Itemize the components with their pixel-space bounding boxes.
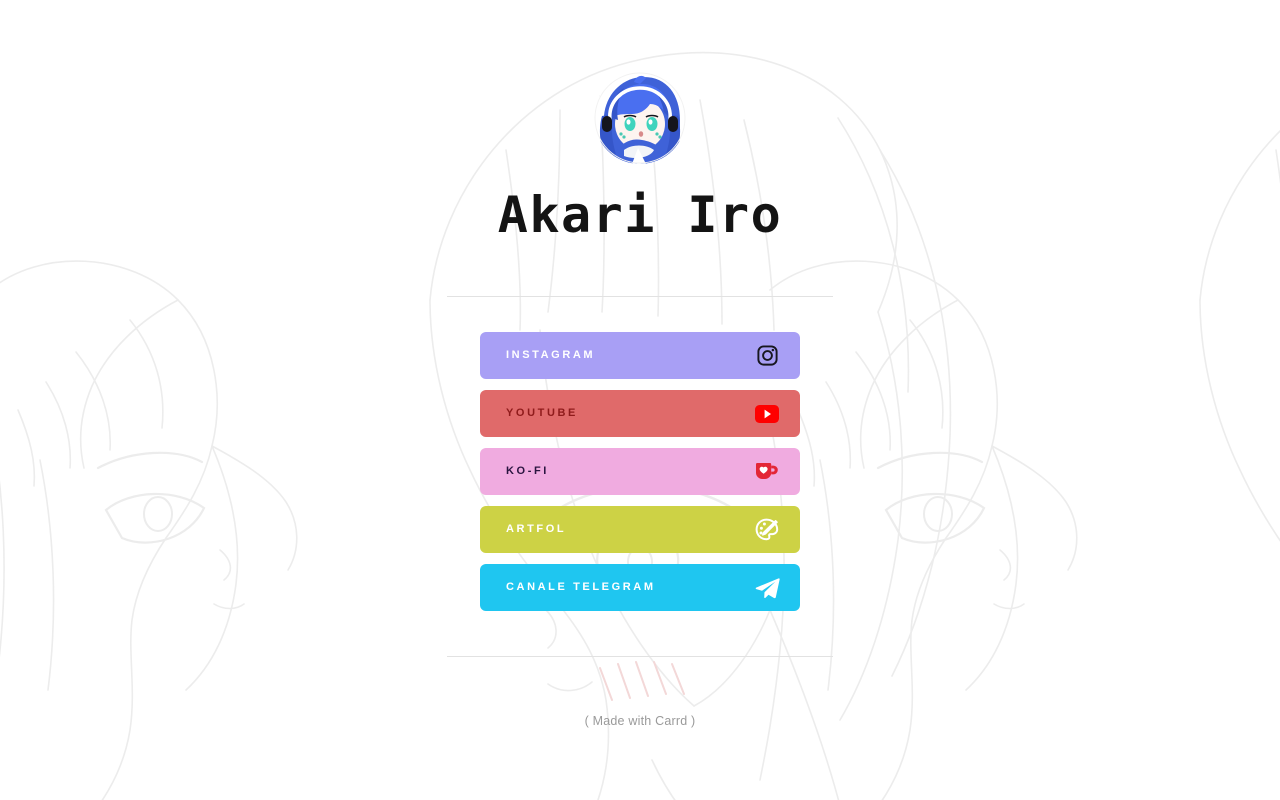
link-button-kofi[interactable]: KO-FI [480,448,800,495]
link-button-artfol[interactable]: ARTFOL [480,506,800,553]
artfol-palette-icon [754,517,780,543]
divider-bottom [447,656,833,657]
link-label-artfol: ARTFOL [506,524,754,535]
telegram-paperplane-icon [754,575,780,601]
link-label-instagram: INSTAGRAM [506,350,754,361]
avatar [594,72,686,164]
profile-page: Akari Iro INSTAGRAM YOUTUBE [0,0,1280,800]
youtube-icon [754,401,780,427]
link-list: INSTAGRAM YOUTUBE KO-FI [480,332,800,611]
instagram-icon [754,343,780,369]
divider-top [447,296,833,297]
footer-credit[interactable]: ( Made with Carrd ) [585,714,696,728]
kofi-cup-icon [754,459,780,485]
page-title: Akari Iro [498,188,782,243]
link-button-youtube[interactable]: YOUTUBE [480,390,800,437]
link-button-telegram[interactable]: CANALE TELEGRAM [480,564,800,611]
link-label-telegram: CANALE TELEGRAM [506,582,754,593]
link-button-instagram[interactable]: INSTAGRAM [480,332,800,379]
link-label-kofi: KO-FI [506,466,754,477]
link-label-youtube: YOUTUBE [506,408,754,419]
